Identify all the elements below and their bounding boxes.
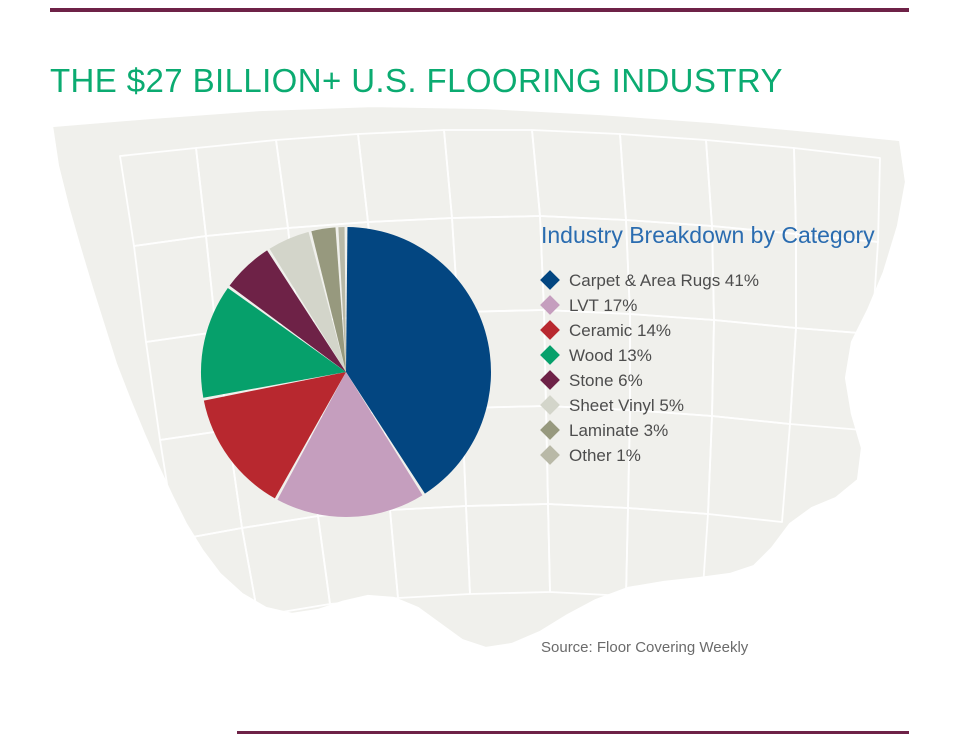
top-divider-rule [50,8,909,12]
page-title: THE $27 BILLION+ U.S. FLOORING INDUSTRY [50,62,783,100]
legend-item-label: Ceramic 14% [569,322,671,339]
legend-item[interactable]: Laminate 3% [541,418,941,442]
legend-item-label: Carpet & Area Rugs 41% [569,272,759,289]
legend-item[interactable]: Other 1% [541,443,941,467]
legend-item-label: Laminate 3% [569,422,668,439]
legend-swatch-diamond-icon [540,345,560,365]
legend-swatch-diamond-icon [540,420,560,440]
chart-legend: Industry Breakdown by Category Carpet & … [541,222,941,467]
pie-chart [198,224,494,520]
legend-swatch-diamond-icon [540,445,560,465]
legend-item-list: Carpet & Area Rugs 41%LVT 17%Ceramic 14%… [541,268,941,467]
legend-item[interactable]: Carpet & Area Rugs 41% [541,268,941,292]
legend-item-label: LVT 17% [569,297,637,314]
source-note: Source: Floor Covering Weekly [541,639,748,656]
legend-swatch-diamond-icon [540,320,560,340]
legend-item[interactable]: LVT 17% [541,293,941,317]
legend-swatch-diamond-icon [540,395,560,415]
legend-item-label: Sheet Vinyl 5% [569,397,684,414]
bottom-divider-rule [237,731,909,734]
pie-slice-group [201,227,491,517]
legend-item[interactable]: Stone 6% [541,368,941,392]
infographic-page: THE $27 BILLION+ U.S. FLOORING INDUSTRY … [0,0,961,747]
legend-item-label: Other 1% [569,447,641,464]
legend-swatch-diamond-icon [540,295,560,315]
legend-item[interactable]: Ceramic 14% [541,318,941,342]
pie-chart-svg [198,224,494,520]
legend-item-label: Stone 6% [569,372,643,389]
legend-swatch-diamond-icon [540,270,560,290]
legend-item-label: Wood 13% [569,347,652,364]
legend-item[interactable]: Wood 13% [541,343,941,367]
legend-swatch-diamond-icon [540,370,560,390]
legend-heading: Industry Breakdown by Category [541,222,941,249]
legend-item[interactable]: Sheet Vinyl 5% [541,393,941,417]
